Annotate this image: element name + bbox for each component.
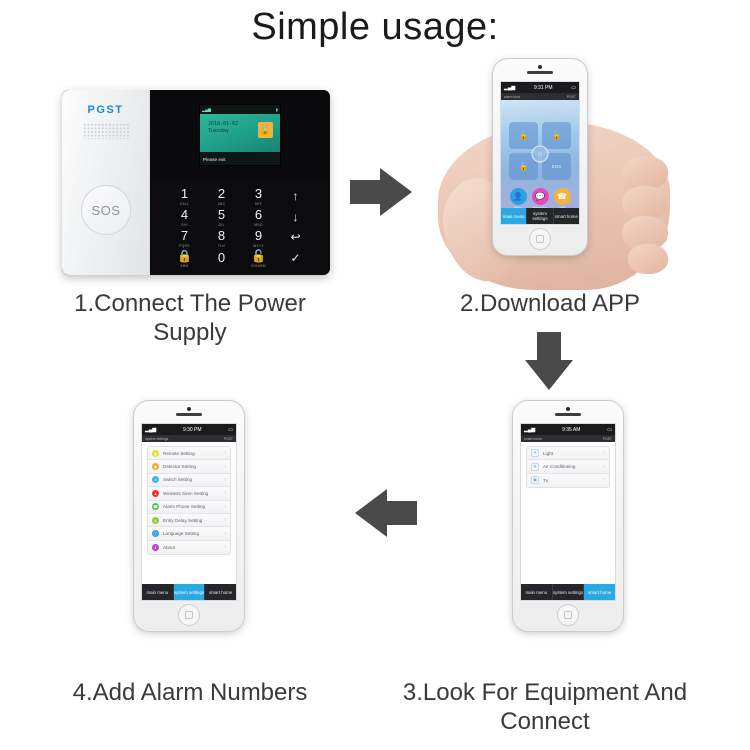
chevron-right-icon: ›	[224, 464, 226, 470]
chevron-right-icon: ›	[224, 544, 226, 550]
app-tile-arm[interactable]: 🔒	[509, 122, 538, 149]
list-item-label: Switch Setting	[163, 477, 224, 482]
list-item[interactable]: ⓘLanguage Setting›	[148, 527, 230, 540]
home-button-square-icon	[564, 611, 572, 619]
lcd-signal-icon: ▂▄▆	[202, 105, 211, 114]
arrow-left-shaft	[383, 501, 417, 525]
phone-smart-statusbar: ▂▄▆ 9:35 AM ▭	[521, 424, 615, 435]
list-item[interactable]: ◷Entry Delay Setting›	[148, 514, 230, 527]
smart-home-list[interactable]: ☀Light›❄Air Conditioning›▣Tv›	[526, 446, 610, 488]
arrow-right-head	[380, 168, 412, 216]
list-item-label: Tv	[543, 478, 603, 483]
list-item-label: Remote Setting	[163, 451, 224, 456]
lcd-date-value: 2018-01-02	[208, 121, 238, 128]
keypad-key-sublabel: ARM	[177, 265, 192, 268]
lcd-weekday-value: Tuesday	[208, 128, 238, 135]
phone-smart-tabbar[interactable]: main menusystem settingssmart home	[521, 584, 615, 600]
hand-finger-1	[622, 156, 668, 190]
step-4-caption: 4.Add Alarm Numbers	[40, 678, 340, 707]
keypad-key-sym-15[interactable]: ✓	[290, 250, 300, 267]
speaker-grille	[83, 123, 129, 139]
keypad-key-symbol-icon: ↓	[293, 210, 299, 224]
arrow-left-head	[355, 489, 387, 537]
list-item-label: Detector Setting	[163, 464, 224, 469]
setting-category-icon: ☎	[152, 503, 159, 510]
keypad-key-number: 9	[255, 228, 262, 243]
keypad-key-sym-7[interactable]: ↓	[293, 209, 299, 226]
keypad-key-0[interactable]: 0	[218, 250, 225, 267]
app-tile-icon: 🔒	[519, 131, 529, 140]
list-item[interactable]: ◉Detector Setting›	[148, 460, 230, 473]
keypad-key-symbol-icon: 🔒	[177, 249, 192, 263]
phone-app-statusbar: ▂▄▆ 9:31 PM ▭	[501, 82, 579, 93]
setting-category-icon: ◷	[152, 517, 159, 524]
step-1-caption: 1.Connect The Power Supply	[40, 289, 340, 347]
phone-app-screen: ▂▄▆ 9:31 PM ▭ alarm host PGST 🔒🔓🔒SOS ⌂ 👤…	[500, 81, 580, 225]
keypad-key-sublabel: TUV	[218, 245, 226, 248]
list-item-label: Entry Delay Setting	[163, 518, 224, 523]
panel-right-face: ▂▄▆ ▮ 2018-01-02 Tuesday 🔒 Please exit 1…	[150, 90, 330, 275]
alarm-panel-device: PGST SOS ▂▄▆ ▮ 2018-01-02 Tuesday 🔒 Plea…	[62, 90, 330, 275]
keypad-key-sublabel: DISARM	[251, 265, 266, 268]
arrow-right-shaft	[350, 180, 384, 204]
keypad-key-number: 1	[181, 186, 188, 201]
setting-category-icon: ▲	[152, 490, 159, 497]
app-tile-icon: 🔒	[519, 162, 529, 171]
keypad-key-symbol-icon: ↩	[290, 230, 300, 244]
front-camera-icon	[566, 407, 570, 411]
phone-smart-screen: ▂▄▆ 9:35 AM ▭ smart home PGST ☀Light›❄Ai…	[520, 423, 616, 601]
home-button[interactable]	[178, 604, 200, 626]
earpiece-speaker	[176, 413, 202, 416]
tab-main-menu[interactable]: main menu	[521, 584, 553, 600]
subbar-left-text: alarm host	[504, 95, 520, 99]
clock-text: 9:35 AM	[562, 427, 580, 433]
tab-system-settings[interactable]: system settings	[174, 584, 206, 600]
list-item[interactable]: ❄Air Conditioning›	[527, 460, 609, 473]
arrow-left-icon	[355, 489, 417, 537]
clock-text: 9:30 PM	[183, 427, 202, 433]
tab-smart-home[interactable]: smart home	[205, 584, 236, 600]
arrow-right-icon	[350, 168, 412, 216]
earpiece-speaker	[555, 413, 581, 416]
keypad-key-7[interactable]: 7PQRS	[179, 228, 190, 248]
tab-smart-home[interactable]: smart home	[554, 208, 579, 224]
list-item-label: Air Conditioning	[543, 464, 603, 469]
panel-left-face: PGST SOS	[62, 90, 150, 275]
list-item[interactable]: ☀Light›	[527, 447, 609, 460]
keypad-key-number: 6	[255, 207, 262, 222]
phone-app-tabbar[interactable]: main menusystem settingssmart home	[501, 208, 579, 224]
hand-finger-4	[628, 244, 668, 274]
list-item[interactable]: ▲Wireless Siren Setting›	[148, 487, 230, 500]
smart-device-icon: ❄	[531, 463, 539, 471]
home-button[interactable]	[529, 228, 551, 250]
app-tile-icon: 🔓	[552, 131, 562, 140]
lcd-status-text: Please exit	[203, 157, 225, 162]
app-tile-icon: SOS	[552, 164, 562, 169]
tab-system-settings[interactable]: system settings	[553, 584, 585, 600]
chevron-right-icon: ›	[603, 477, 605, 483]
list-item-label: Alarm Phone Setting	[163, 504, 224, 509]
front-camera-icon	[187, 407, 191, 411]
keypad-key-sym-3[interactable]: ↑	[293, 188, 299, 205]
list-item[interactable]: ◑Switch Setting›	[148, 474, 230, 487]
list-item-label: Language Setting	[163, 531, 224, 536]
step-3-caption: 3.Look For Equipment And Connect	[380, 678, 710, 736]
list-item[interactable]: ℹAbout›	[148, 541, 230, 554]
step-2-caption: 2.Download APP	[400, 289, 700, 318]
phone-settings-screen: ▂▄▆ 9:30 PM ▭ system settings PGST ▮Remo…	[141, 423, 237, 601]
tab-main-menu[interactable]: main menu	[501, 208, 527, 224]
keypad-key-8[interactable]: 8TUV	[218, 228, 226, 248]
setting-category-icon: ◉	[152, 463, 159, 470]
app-tile-disarm[interactable]: 🔓	[542, 122, 571, 149]
phone-smart-home: ▂▄▆ 9:35 AM ▭ smart home PGST ☀Light›❄Ai…	[512, 400, 624, 632]
chevron-right-icon: ›	[224, 490, 226, 496]
clock-text: 9:31 PM	[534, 85, 553, 91]
app-home-wallpaper: 🔒🔓🔒SOS ⌂ 👤video💬alarm log☎call	[501, 100, 579, 208]
setting-category-icon: ℹ	[152, 544, 159, 551]
list-item[interactable]: ☎Alarm Phone Setting›	[148, 501, 230, 514]
keypad-key-number: 4	[181, 207, 188, 222]
list-item-label: Light	[543, 451, 603, 456]
app-shortcut-icon: 👤	[510, 188, 527, 205]
phone-app-subbar: alarm host PGST	[501, 93, 579, 100]
lcd-footer: Please exit	[200, 152, 280, 166]
keypad-key-number: 8	[218, 228, 225, 243]
arrow-down-icon	[525, 332, 573, 390]
phone-settings-tabbar[interactable]: main menusystem settingssmart home	[142, 584, 236, 600]
chevron-right-icon: ›	[603, 450, 605, 456]
app-shortcut-call[interactable]: ☎call	[551, 188, 573, 210]
keypad-key-number: 2	[218, 186, 225, 201]
keypad-key-6[interactable]: 6MNO	[254, 207, 263, 227]
chevron-right-icon: ›	[224, 531, 226, 537]
phone-system-settings: ▂▄▆ 9:30 PM ▭ system settings PGST ▮Remo…	[133, 400, 245, 632]
keypad-key-sym-11[interactable]: ↩	[290, 229, 300, 246]
lcd-screen: ▂▄▆ ▮ 2018-01-02 Tuesday 🔒 Please exit	[199, 104, 281, 166]
keypad-key-2[interactable]: 2ABC	[218, 186, 226, 206]
chevron-right-icon: ›	[224, 504, 226, 510]
keypad-key-1[interactable]: 1CALL	[180, 186, 189, 206]
keypad[interactable]: 1CALL2ABC3DEF↑4GHI5JKL6MNO↓7PQRS8TUV9WXY…	[150, 180, 330, 275]
lcd-body: 2018-01-02 Tuesday 🔒	[200, 114, 280, 152]
list-item-label: Wireless Siren Setting	[163, 491, 224, 496]
subbar-right-text: PGST	[603, 437, 612, 441]
keypad-key-number: 7	[181, 228, 188, 243]
home-button-square-icon	[536, 235, 544, 243]
chevron-right-icon: ›	[224, 517, 226, 523]
app-shortcut-row[interactable]: 👤video💬alarm log☎call	[501, 188, 579, 210]
keypad-key-symbol-icon: ✓	[290, 251, 300, 265]
subbar-right-text: PGST	[567, 95, 576, 99]
chevron-right-icon: ›	[224, 450, 226, 456]
phone-app-main-menu: ▂▄▆ 9:31 PM ▭ alarm host PGST 🔒🔓🔒SOS ⌂ 👤…	[492, 58, 588, 256]
phone-settings-statusbar: ▂▄▆ 9:30 PM ▭	[142, 424, 236, 435]
lcd-status-bar: ▂▄▆ ▮	[200, 105, 280, 114]
phone-smart-subbar: smart home PGST	[521, 435, 615, 442]
arrow-down-head	[525, 360, 573, 390]
subbar-right-text: PGST	[224, 437, 233, 441]
home-button-square-icon	[185, 611, 193, 619]
battery-icon: ▭	[571, 85, 576, 91]
battery-icon: ▭	[607, 427, 612, 433]
subbar-left-text: system settings	[145, 437, 168, 441]
home-button[interactable]	[557, 604, 579, 626]
list-item[interactable]: ▣Tv›	[527, 474, 609, 487]
earpiece-speaker	[527, 71, 553, 74]
keypad-key-number: 3	[255, 186, 262, 201]
list-item-label: About	[163, 545, 224, 550]
keypad-key-symbol-icon: 🔓	[251, 249, 266, 263]
lcd-bezel: ▂▄▆ ▮ 2018-01-02 Tuesday 🔒 Please exit	[150, 90, 330, 178]
keypad-key-3[interactable]: 3DEF	[255, 186, 263, 206]
keypad-key-number: 5	[218, 207, 225, 222]
lcd-battery-icon: ▮	[276, 105, 278, 114]
keypad-key-symbol-icon: ↑	[293, 189, 299, 203]
tab-system-settings[interactable]: system settings	[527, 208, 553, 224]
signal-icon: ▂▄▆	[504, 85, 515, 91]
settings-list[interactable]: ▮Remote Setting›◉Detector Setting›◑Switc…	[147, 446, 231, 555]
setting-category-icon: ◑	[152, 476, 159, 483]
lcd-date-text: 2018-01-02 Tuesday	[208, 121, 238, 135]
signal-icon: ▂▄▆	[524, 427, 535, 433]
chevron-right-icon: ›	[603, 464, 605, 470]
smart-device-icon: ☀	[531, 449, 539, 457]
hand-finger-2	[622, 186, 668, 220]
smart-home-list-area: ☀Light›❄Air Conditioning›▣Tv›	[521, 442, 615, 584]
keypad-key-sym-12[interactable]: 🔒ARM	[177, 248, 192, 268]
sos-button[interactable]: SOS	[81, 185, 131, 235]
phone-settings-subbar: system settings PGST	[142, 435, 236, 442]
app-shortcut-alarm-log[interactable]: 💬alarm log	[529, 188, 551, 210]
front-camera-icon	[538, 65, 542, 69]
smart-device-icon: ▣	[531, 476, 539, 484]
keypad-key-number: 0	[218, 250, 225, 265]
chevron-right-icon: ›	[224, 477, 226, 483]
setting-category-icon: ⓘ	[152, 530, 159, 537]
settings-list-area: ▮Remote Setting›◉Detector Setting›◑Switc…	[142, 442, 236, 584]
tab-smart-home[interactable]: smart home	[584, 584, 615, 600]
tab-main-menu[interactable]: main menu	[142, 584, 174, 600]
battery-icon: ▭	[228, 427, 233, 433]
signal-icon: ▂▄▆	[145, 427, 156, 433]
app-shortcut-video[interactable]: 👤video	[507, 188, 529, 210]
setting-category-icon: ▮	[152, 450, 159, 457]
keypad-key-4[interactable]: 4GHI	[181, 207, 188, 227]
app-shortcut-icon: ☎	[554, 188, 571, 205]
app-shortcut-icon: 💬	[532, 188, 549, 205]
lcd-lock-icon: 🔒	[258, 122, 273, 138]
pgst-brand-logo: PGST	[62, 104, 149, 116]
keypad-key-5[interactable]: 5JKL	[218, 207, 225, 227]
list-item[interactable]: ▮Remote Setting›	[148, 447, 230, 460]
home-center-button[interactable]: ⌂	[532, 146, 549, 163]
page-title: Simple usage:	[0, 6, 750, 49]
keypad-key-9[interactable]: 9WXYZ	[253, 228, 264, 248]
subbar-left-text: smart home	[524, 437, 542, 441]
keypad-key-sym-14[interactable]: 🔓DISARM	[251, 248, 266, 268]
